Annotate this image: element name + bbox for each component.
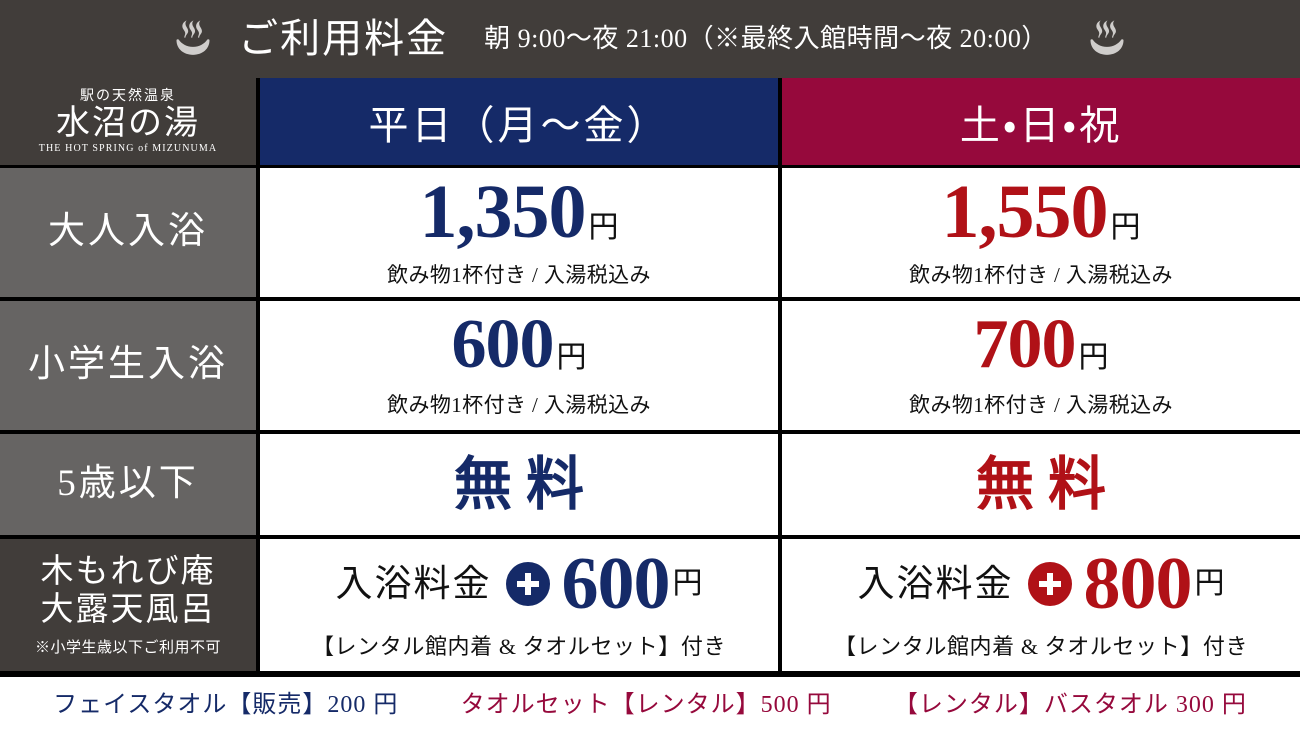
price-cell-under5-weekend: 無料 xyxy=(782,434,1300,539)
price-free-label: 無料 xyxy=(440,456,598,514)
price-amount: 600 xyxy=(562,549,670,619)
price-cell-komorebian-weekend: 入浴料金 800 円 【レンタル館内着 & タオルセット】付き xyxy=(782,539,1300,674)
price-note: 【レンタル館内着 & タオルセット】付き xyxy=(312,629,726,661)
logo-name: 水沼の湯 xyxy=(56,107,200,141)
column-header-weekday-label: 平日（月〜金） xyxy=(369,93,670,151)
price-table-poster: ご利用料金 朝 9:00〜夜 21:00（※最終入館時間〜夜 20:00） 駅の… xyxy=(0,0,1300,732)
amount-line: 入浴料金 600 円 xyxy=(336,549,703,619)
row-label-text: 大人入浴 xyxy=(48,211,208,254)
price-note: 飲み物1杯付き / 入湯税込み xyxy=(909,259,1173,289)
header-banner: ご利用料金 朝 9:00〜夜 21:00（※最終入館時間〜夜 20:00） xyxy=(0,0,1300,78)
yen-unit: 円 xyxy=(589,213,619,243)
amount-line: 入浴料金 800 円 xyxy=(858,549,1225,619)
row-label-adult: 大人入浴 xyxy=(0,168,260,301)
row-label-under5: 5歳以下 xyxy=(0,434,260,539)
price-cell-komorebian-weekday: 入浴料金 600 円 【レンタル館内着 & タオルセット】付き xyxy=(260,539,782,674)
price-note: 飲み物1杯付き / 入湯税込み xyxy=(387,389,651,419)
logo-superline: 駅の天然温泉 xyxy=(80,90,176,104)
amount-line: 600 円 xyxy=(452,312,587,379)
footer-item-face-towel: フェイスタオル【販売】200 円 xyxy=(53,693,398,717)
amount-line: 1,350 円 xyxy=(420,176,619,248)
footer-extras: フェイスタオル【販売】200 円 タオルセット【レンタル】500 円 【レンタル… xyxy=(0,674,1300,732)
price-note: 【レンタル館内着 & タオルセット】付き xyxy=(834,629,1248,661)
price-free-label: 無料 xyxy=(962,456,1120,514)
row-label-text: 5歳以下 xyxy=(57,463,199,506)
price-grid: 駅の天然温泉 水沼の湯 THE HOT SPRING of MIZUNUMA 平… xyxy=(0,78,1300,674)
price-amount: 600 xyxy=(452,312,554,379)
amount-line: 1,550 円 xyxy=(942,176,1141,248)
yen-unit: 円 xyxy=(673,569,703,599)
opening-hours: 朝 9:00〜夜 21:00（※最終入館時間〜夜 20:00） xyxy=(484,26,1048,52)
onsen-hot-spring-icon xyxy=(1084,17,1130,61)
page-title: ご利用料金 xyxy=(238,19,448,59)
price-note: 飲み物1杯付き / 入湯税込み xyxy=(909,389,1173,419)
row-label-elementary: 小学生入浴 xyxy=(0,301,260,434)
price-cell-elementary-weekend: 700 円 飲み物1杯付き / 入湯税込み xyxy=(782,301,1300,434)
price-prefix: 入浴料金 xyxy=(336,566,492,603)
row-label-line2: 大露天風呂 xyxy=(41,591,216,629)
price-cell-elementary-weekday: 600 円 飲み物1杯付き / 入湯税込み xyxy=(260,301,782,434)
footer-item-towel-set: タオルセット【レンタル】500 円 xyxy=(461,693,832,717)
onsen-hot-spring-icon xyxy=(170,17,216,61)
column-header-weekend: 土・日・祝 xyxy=(782,78,1300,168)
table-row-elementary: 小学生入浴 600 円 飲み物1杯付き / 入湯税込み 700 円 飲み物1杯付… xyxy=(0,301,1300,434)
price-amount: 700 xyxy=(974,312,1076,379)
table-row-adult: 大人入浴 1,350 円 飲み物1杯付き / 入湯税込み 1,550 円 飲み物… xyxy=(0,168,1300,301)
brand-logo: 駅の天然温泉 水沼の湯 THE HOT SPRING of MIZUNUMA xyxy=(39,90,217,154)
row-label-restriction-note: ※小学生歳以下ご利用不可 xyxy=(35,636,221,657)
column-header-weekend-label: 土・日・祝 xyxy=(960,93,1122,151)
price-note: 飲み物1杯付き / 入湯税込み xyxy=(387,259,651,289)
yen-unit: 円 xyxy=(1079,343,1109,373)
price-prefix: 入浴料金 xyxy=(858,566,1014,603)
yen-unit: 円 xyxy=(1195,569,1225,599)
yen-unit: 円 xyxy=(1111,213,1141,243)
price-cell-adult-weekend: 1,550 円 飲み物1杯付き / 入湯税込み xyxy=(782,168,1300,301)
price-amount: 1,550 xyxy=(942,176,1108,248)
brand-logo-cell: 駅の天然温泉 水沼の湯 THE HOT SPRING of MIZUNUMA xyxy=(0,78,260,168)
plus-circle-icon xyxy=(506,562,550,606)
table-row-under5: 5歳以下 無料 無料 xyxy=(0,434,1300,539)
amount-line: 700 円 xyxy=(974,312,1109,379)
price-cell-adult-weekday: 1,350 円 飲み物1杯付き / 入湯税込み xyxy=(260,168,782,301)
column-header-weekday: 平日（月〜金） xyxy=(260,78,782,168)
footer-item-bath-towel: 【レンタル】バスタオル 300 円 xyxy=(894,693,1247,717)
row-label-komorebian: 木もれび庵 大露天風呂 ※小学生歳以下ご利用不可 xyxy=(0,539,260,674)
row-label-line1: 木もれび庵 xyxy=(41,553,216,591)
plus-circle-icon xyxy=(1028,562,1072,606)
yen-unit: 円 xyxy=(557,343,587,373)
table-row-komorebian: 木もれび庵 大露天風呂 ※小学生歳以下ご利用不可 入浴料金 600 円 【レンタ… xyxy=(0,539,1300,674)
price-amount: 800 xyxy=(1084,549,1192,619)
price-cell-under5-weekday: 無料 xyxy=(260,434,782,539)
price-amount: 1,350 xyxy=(420,176,586,248)
row-label-text: 小学生入浴 xyxy=(28,344,228,387)
table-header-row: 駅の天然温泉 水沼の湯 THE HOT SPRING of MIZUNUMA 平… xyxy=(0,78,1300,168)
logo-romaji: THE HOT SPRING of MIZUNUMA xyxy=(39,144,217,154)
